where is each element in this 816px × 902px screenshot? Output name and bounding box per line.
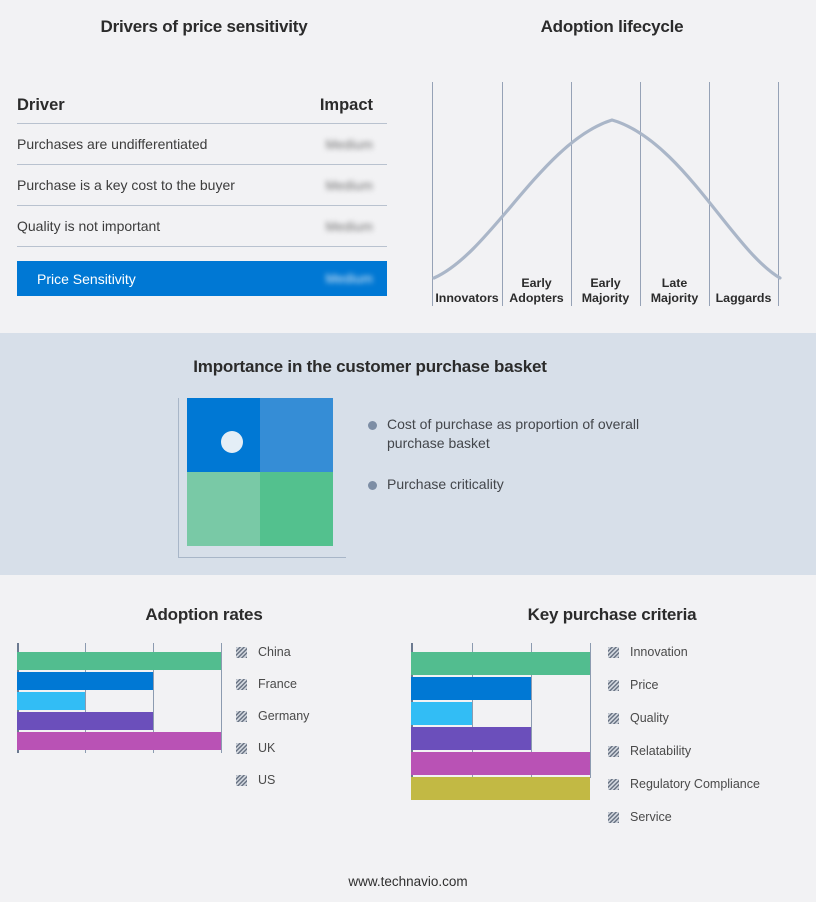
bar-uk [17,712,153,730]
list-item: Service [608,810,672,824]
impact-value-blurred: Medium [326,219,387,234]
stage-label-line: Adopters [502,291,571,306]
price-sensitivity-summary-row: Price Sensitivity Medium [17,261,387,296]
list-item: France [236,677,297,691]
lifecycle-stage-late-majority: Late Majority [640,276,709,306]
list-item: Quality [608,711,669,725]
gridline [590,643,591,778]
price-sensitivity-impact-blurred: Medium [326,271,387,286]
infographic-page: Drivers of price sensitivity Driver Impa… [0,0,816,902]
bar-us [17,732,221,750]
list-item: Purchase criticality [368,475,668,494]
legend-swatch-icon [608,680,619,691]
stage-label-line: Late [640,276,709,291]
stage-label-line: Laggards [709,291,778,306]
lifecycle-stage-innovators: Innovators [432,291,502,306]
driver-label: Purchases are undifferentiated [17,136,207,152]
bullet-dot-icon [368,481,377,490]
bar-innovation [411,652,590,675]
legend-label: Purchase criticality [387,475,504,494]
legend-label: Price [630,678,658,692]
list-item: Regulatory Compliance [608,777,760,791]
legend-swatch-icon [608,647,619,658]
list-item: Relatability [608,744,691,758]
legend-label: China [258,645,291,659]
list-item: China [236,645,291,659]
adoption-lifecycle-title: Adoption lifecycle [408,17,816,37]
drivers-panel: Drivers of price sensitivity Driver Impa… [0,0,408,330]
bar-germany [17,692,85,710]
stage-label-line: Innovators [432,291,502,306]
bar-china [17,652,221,670]
lifecycle-stage-early-adopters: Early Adopters [502,276,571,306]
stage-label-line: Early [571,276,640,291]
quadrant-top-right [260,398,333,472]
legend-swatch-icon [236,743,247,754]
list-item: Innovation [608,645,688,659]
adoption-rates-title: Adoption rates [0,605,408,625]
bar-relatability [411,727,531,750]
bullet-dot-icon [368,421,377,430]
legend-label: Quality [630,711,669,725]
key-purchase-criteria-panel: Key purchase criteria Innovation Price [408,575,816,880]
y-axis-line [178,398,179,558]
legend-label: Cost of purchase as proportion of overal… [387,415,647,453]
impact-value-blurred: Medium [326,137,387,152]
adoption-rates-panel: Adoption rates China France Germa [0,575,408,880]
column-header-driver: Driver [17,96,65,115]
quadrant-bottom-left [187,472,260,546]
list-item: US [236,773,275,787]
bar-service [411,777,590,800]
legend-label: Service [630,810,672,824]
list-item: Germany [236,709,309,723]
table-row: Purchase is a key cost to the buyer Medi… [17,165,387,206]
stage-label-line: Early [502,276,571,291]
purchase-basket-legend: Cost of purchase as proportion of overal… [368,415,668,516]
quadrant-grid [187,398,333,546]
adoption-rates-legend: China France Germany UK US [236,643,396,763]
bar-regulatory-compliance [411,752,590,775]
legend-swatch-icon [608,713,619,724]
lifecycle-stage-labels: Innovators Early Adopters Early Majority… [432,242,792,306]
key-purchase-criteria-chart [411,643,593,778]
legend-swatch-icon [608,746,619,757]
legend-swatch-icon [236,679,247,690]
adoption-rates-chart [17,643,223,753]
stage-label-line: Majority [571,291,640,306]
drivers-table: Driver Impact Purchases are undifferenti… [17,88,387,296]
legend-swatch-icon [236,647,247,658]
x-axis-line [178,557,346,558]
legend-swatch-icon [236,711,247,722]
list-item: UK [236,741,275,755]
table-row: Quality is not important Medium [17,206,387,247]
legend-label: Regulatory Compliance [630,777,760,791]
list-item: Price [608,678,658,692]
legend-label: UK [258,741,275,755]
driver-label: Quality is not important [17,218,160,234]
legend-swatch-icon [608,812,619,823]
impact-value-blurred: Medium [326,178,387,193]
price-sensitivity-label: Price Sensitivity [37,271,136,287]
driver-label: Purchase is a key cost to the buyer [17,177,235,193]
lifecycle-stage-laggards: Laggards [709,291,778,306]
purchase-basket-quadrant-chart [178,398,346,558]
key-purchase-criteria-title: Key purchase criteria [408,605,816,625]
legend-label: Innovation [630,645,688,659]
position-marker-icon [221,431,243,453]
table-row: Purchases are undifferentiated Medium [17,124,387,165]
footer-url: www.technavio.com [0,874,816,889]
bar-price [411,677,531,700]
quadrant-bottom-right [260,472,333,546]
adoption-lifecycle-chart: Innovators Early Adopters Early Majority… [432,82,792,306]
legend-label: Germany [258,709,309,723]
column-header-impact: Impact [320,96,387,115]
bar-quality [411,702,472,725]
list-item: Cost of purchase as proportion of overal… [368,415,668,453]
lifecycle-stage-early-majority: Early Majority [571,276,640,306]
adoption-lifecycle-panel: Adoption lifecycle Innovators Early Adop… [408,0,816,330]
legend-swatch-icon [236,775,247,786]
legend-label: US [258,773,275,787]
drivers-title: Drivers of price sensitivity [0,17,408,37]
stage-label-line: Majority [640,291,709,306]
key-purchase-criteria-legend: Innovation Price Quality Relatability Re… [608,643,808,823]
purchase-basket-panel: Importance in the customer purchase bask… [0,333,816,575]
legend-label: Relatability [630,744,691,758]
bar-france [17,672,153,690]
drivers-table-header: Driver Impact [17,88,387,124]
legend-swatch-icon [608,779,619,790]
gridline [221,643,222,753]
legend-label: France [258,677,297,691]
purchase-basket-title: Importance in the customer purchase bask… [0,357,740,377]
